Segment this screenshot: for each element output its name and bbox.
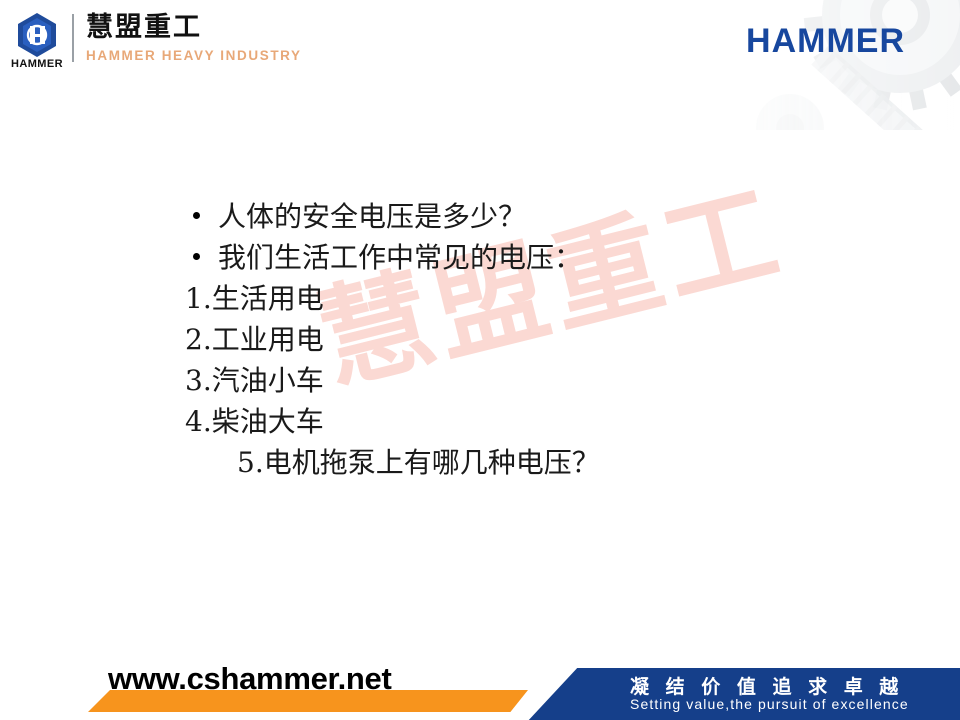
gear-artwork-icon	[670, 0, 960, 130]
slide-header: HAMMER 慧盟重工 HAMMER HEAVY INDUSTRY HAMMER	[0, 0, 960, 130]
content-line: 人体的安全电压是多少？	[185, 196, 825, 237]
company-name-en: HAMMER HEAVY INDUSTRY	[86, 46, 302, 66]
slide-footer: www.cshammer.net 凝 结 价 值 追 求 卓 越 Setting…	[0, 660, 960, 720]
content-line: 1.生活用电	[185, 278, 825, 319]
footer-blue-band: 凝 结 价 值 追 求 卓 越 Setting value,the pursui…	[520, 668, 960, 720]
content-line: 5.电机拖泵上有哪几种电压？	[185, 442, 825, 483]
slide-content: 人体的安全电压是多少？ 我们生活工作中常见的电压： 1.生活用电 2.工业用电 …	[185, 196, 825, 483]
content-line: 4.柴油大车	[185, 401, 825, 442]
footer-slogan-cn: 凝 结 价 值 追 求 卓 越	[630, 672, 903, 699]
footer-website-url[interactable]: www.cshammer.net	[108, 661, 392, 697]
content-line: 2.工业用电	[185, 319, 825, 360]
bullet-icon	[193, 212, 200, 219]
hammer-hexagon-logo-icon: HAMMER	[8, 12, 66, 74]
footer-slogan-en: Setting value,the pursuit of excellence	[630, 696, 909, 712]
content-line: 我们生活工作中常见的电压：	[185, 237, 825, 278]
header-title-hammer: HAMMER	[746, 22, 905, 61]
brand-divider	[72, 14, 74, 62]
brand-block: HAMMER 慧盟重工 HAMMER HEAVY INDUSTRY	[8, 12, 302, 74]
slide-canvas: HAMMER 慧盟重工 HAMMER HEAVY INDUSTRY HAMMER…	[0, 0, 960, 720]
content-line-text: 我们生活工作中常见的电压：	[218, 241, 582, 274]
logo-wordmark: HAMMER	[8, 58, 66, 70]
content-line: 3.汽油小车	[185, 360, 825, 401]
brand-text: 慧盟重工 HAMMER HEAVY INDUSTRY	[86, 12, 302, 66]
company-name-cn: 慧盟重工	[86, 12, 302, 44]
content-line-text: 人体的安全电压是多少？	[218, 200, 526, 233]
bullet-icon	[193, 253, 200, 260]
